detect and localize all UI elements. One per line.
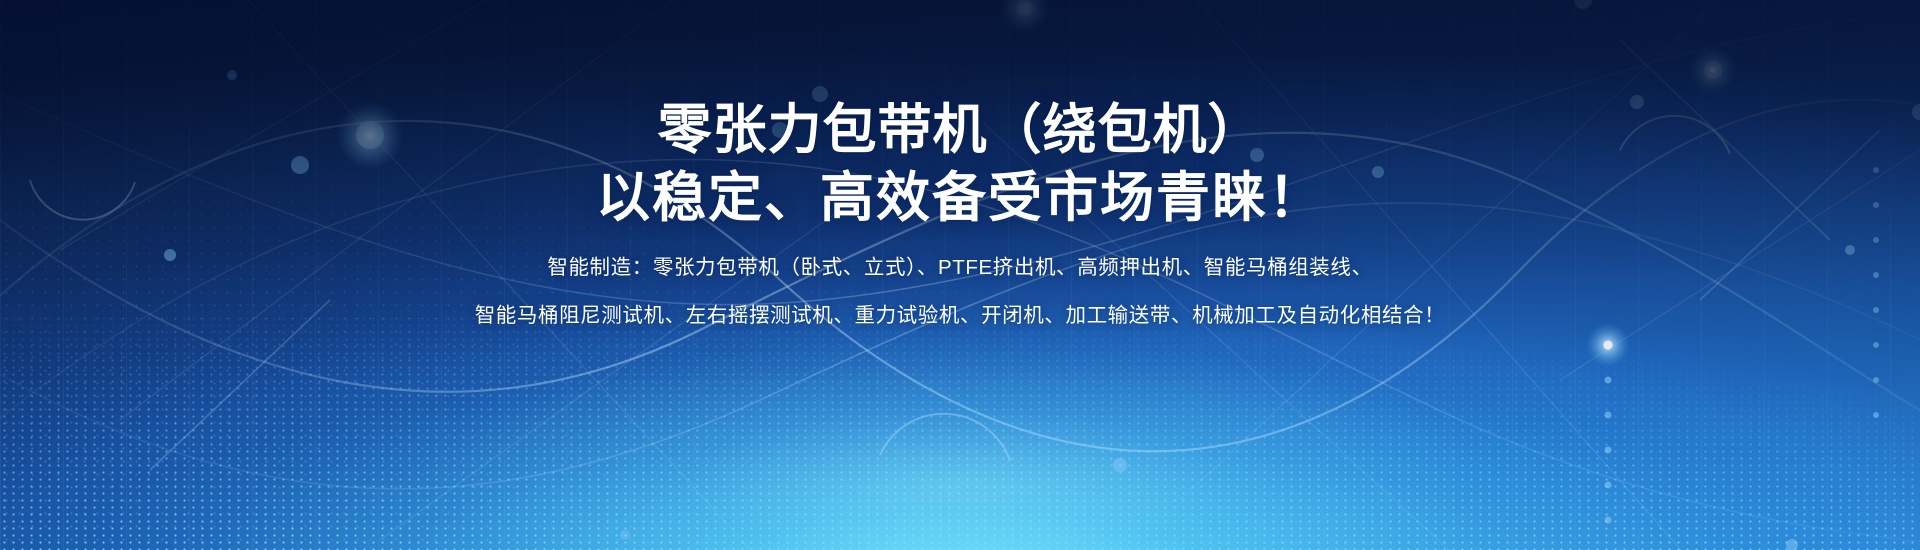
banner-headline-line2: 以稳定、高效备受市场青睐！ [596, 164, 1324, 232]
banner-headline-line1: 零张力包带机（绕包机） [658, 96, 1263, 164]
banner-subtitle-line1: 智能制造：零张力包带机（卧式、立式）、PTFE挤出机、高频押出机、智能马桶组装线… [475, 254, 1446, 282]
hero-banner: 零张力包带机（绕包机） 以稳定、高效备受市场青睐！ 智能制造：零张力包带机（卧式… [0, 0, 1920, 550]
banner-content: 零张力包带机（绕包机） 以稳定、高效备受市场青睐！ 智能制造：零张力包带机（卧式… [0, 0, 1920, 550]
banner-subtitle-line2: 智能马桶阻尼测试机、左右摇摆测试机、重力试验机、开闭机、加工输送带、机械加工及自… [475, 302, 1446, 330]
banner-subtitle: 智能制造：零张力包带机（卧式、立式）、PTFE挤出机、高频押出机、智能马桶组装线… [475, 254, 1446, 329]
